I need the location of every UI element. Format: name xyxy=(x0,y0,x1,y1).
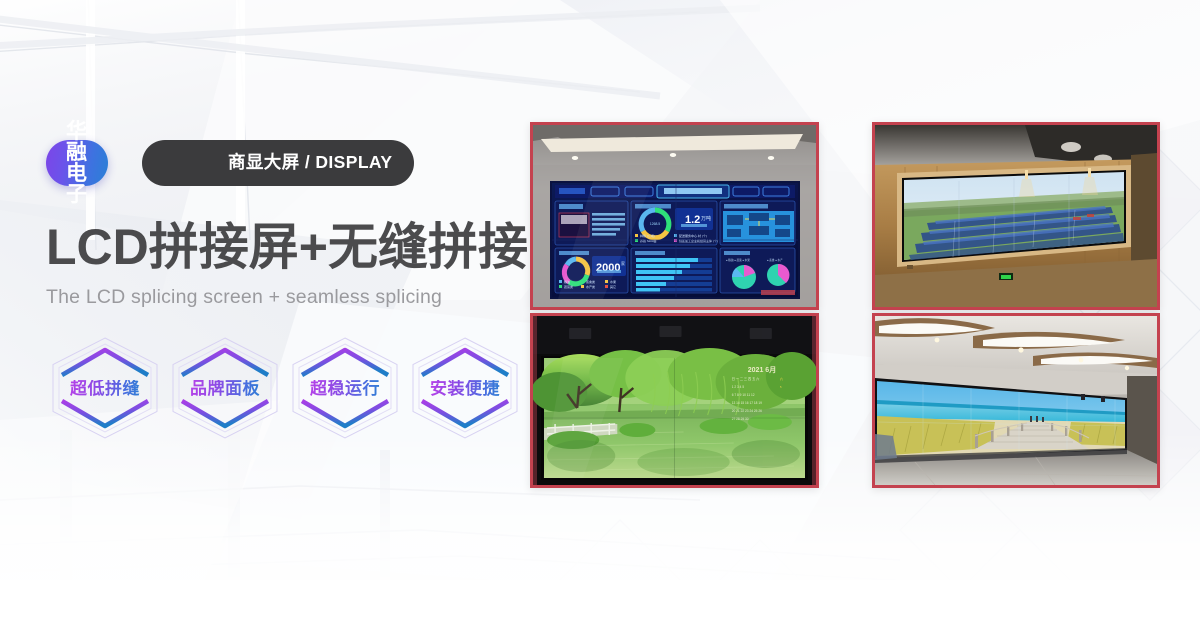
feature-badge-label: 超稳运行 xyxy=(310,380,380,397)
svg-text:2021 6月: 2021 6月 xyxy=(748,366,776,374)
svg-text:配送服务中心·村 (个): 配送服务中心·村 (个) xyxy=(679,233,707,238)
svg-text:六: 六 xyxy=(780,376,783,381)
svg-text:辖区加工企业和经营主体 (个): 辖区加工企业和经营主体 (个) xyxy=(679,238,718,243)
feature-badge-label: 安装便捷 xyxy=(430,380,500,397)
dashboard-wall-illustration: 1268.5 1.2 万吨 种植 (公顷) 养殖 5200亩 配送服务中心·村 … xyxy=(533,125,816,307)
svg-text:13 14 15 16 17 18 19: 13 14 15 16 17 18 19 xyxy=(732,401,762,405)
svg-text:27 28 29 30: 27 28 29 30 xyxy=(732,417,749,421)
svg-text:日 一 二 三 四 五 六: 日 一 二 三 四 五 六 xyxy=(732,376,760,381)
feature-badge-1[interactable]: 超低拼缝 xyxy=(46,335,164,441)
svg-text:养殖 5200亩: 养殖 5200亩 xyxy=(640,238,657,243)
beach-boardwalk-wall-illustration xyxy=(875,316,1157,485)
feature-badge-list: 超低拼缝 品牌面板 xyxy=(46,335,526,441)
svg-text:其它: 其它 xyxy=(610,284,616,289)
svg-text:1268.5: 1268.5 xyxy=(650,222,660,226)
solar-farm-wall-illustration xyxy=(875,125,1157,307)
photo-scene: 1268.5 1.2 万吨 种植 (公顷) 养殖 5200亩 配送服务中心·村 … xyxy=(533,125,816,307)
page-subtitle: The LCD splicing screen + seamless splic… xyxy=(46,286,526,309)
page-title: LCD拼接屏+无缝拼接 xyxy=(46,221,526,274)
category-chip-label: 商显大屏 / DISPLAY xyxy=(228,154,392,172)
willow-lake-wall-illustration: 2021 6月 日 一 二 三 四 五 六 1 2 3 4 5 6 7 8 9 … xyxy=(533,316,816,485)
gallery-photo-solar-farm[interactable] xyxy=(872,122,1160,310)
feature-badge-label: 品牌面板 xyxy=(190,380,260,397)
svg-text:6 7 8 9 10 11 12: 6 7 8 9 10 11 12 xyxy=(732,393,755,397)
photo-scene xyxy=(875,125,1157,307)
feature-badge-3[interactable]: 超稳运行 xyxy=(286,335,404,441)
feature-badge-4[interactable]: 安装便捷 xyxy=(406,335,524,441)
svg-text:● 粮油 ● 蔬菜 ● 水果: ● 粮油 ● 蔬菜 ● 水果 xyxy=(726,258,750,262)
feature-badge-2[interactable]: 品牌面板 xyxy=(166,335,284,441)
svg-text:● 畜禽 ● 水产: ● 畜禽 ● 水产 xyxy=(767,258,783,262)
feature-badge-label: 超低拼缝 xyxy=(70,380,140,397)
svg-text:家: 家 xyxy=(621,260,625,266)
svg-text:1 2 3 4 5: 1 2 3 4 5 xyxy=(732,385,745,389)
brand-pill-label: 华融电子 xyxy=(66,121,88,205)
svg-text:万吨: 万吨 xyxy=(701,215,711,222)
brand-pill[interactable]: 华融电子 xyxy=(46,140,108,186)
gallery-photo-dashboard[interactable]: 1268.5 1.2 万吨 种植 (公顷) 养殖 5200亩 配送服务中心·村 … xyxy=(530,122,819,310)
gallery-photo-beach-boardwalk[interactable] xyxy=(872,313,1160,488)
banner-stage: 商显大屏 / DISPLAY 华融电子 LCD拼接屏+无缝拼接 The LCD … xyxy=(0,0,1200,640)
photo-scene: 2021 6月 日 一 二 三 四 五 六 1 2 3 4 5 6 7 8 9 … xyxy=(533,316,816,485)
headline-column: 商显大屏 / DISPLAY 华融电子 LCD拼接屏+无缝拼接 The LCD … xyxy=(46,140,526,441)
photo-scene xyxy=(875,316,1157,485)
gallery-photo-willow-lake[interactable]: 2021 6月 日 一 二 三 四 五 六 1 2 3 4 5 6 7 8 9 … xyxy=(530,313,819,488)
svg-text:种植 (公顷): 种植 (公顷) xyxy=(640,233,655,238)
category-chip[interactable]: 商显大屏 / DISPLAY xyxy=(142,140,414,186)
svg-text:20 21 22 23 24 25 26: 20 21 22 23 24 25 26 xyxy=(732,409,762,413)
